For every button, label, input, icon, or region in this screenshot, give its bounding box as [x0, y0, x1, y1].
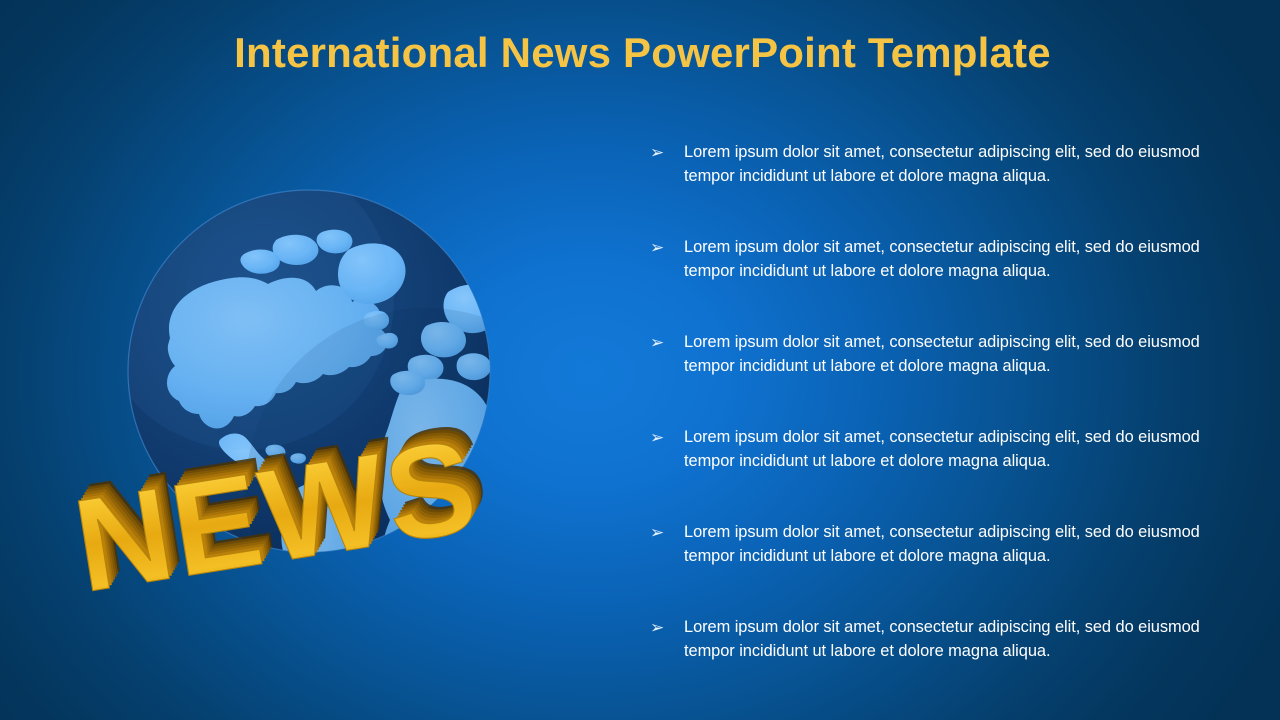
- page-title: International News PowerPoint Template: [0, 30, 1280, 76]
- list-item-text: Lorem ipsum dolor sit amet, consectetur …: [684, 140, 1236, 188]
- list-item-text: Lorem ipsum dolor sit amet, consectetur …: [684, 615, 1236, 663]
- arrow-bullet-icon: ➢: [650, 521, 676, 545]
- list-item: ➢ Lorem ipsum dolor sit amet, consectetu…: [650, 520, 1250, 615]
- arrow-bullet-icon: ➢: [650, 616, 676, 640]
- list-item-text: Lorem ipsum dolor sit amet, consectetur …: [684, 235, 1236, 283]
- list-item: ➢ Lorem ipsum dolor sit amet, consectetu…: [650, 140, 1250, 235]
- arrow-bullet-icon: ➢: [650, 331, 676, 355]
- slide-canvas: International News PowerPoint Template: [0, 0, 1280, 720]
- news-wordmark: NEWS NEWS NEWS NEWS NEWS NEWS NEWS: [70, 400, 570, 640]
- list-item: ➢ Lorem ipsum dolor sit amet, consectetu…: [650, 235, 1250, 330]
- svg-text:NEWS: NEWS: [70, 411, 487, 619]
- arrow-bullet-icon: ➢: [650, 426, 676, 450]
- list-item: ➢ Lorem ipsum dolor sit amet, consectetu…: [650, 330, 1250, 425]
- bullet-list: ➢ Lorem ipsum dolor sit amet, consectetu…: [650, 140, 1250, 710]
- list-item-text: Lorem ipsum dolor sit amet, consectetur …: [684, 330, 1236, 378]
- list-item: ➢ Lorem ipsum dolor sit amet, consectetu…: [650, 425, 1250, 520]
- list-item-text: Lorem ipsum dolor sit amet, consectetur …: [684, 425, 1236, 473]
- list-item-text: Lorem ipsum dolor sit amet, consectetur …: [684, 520, 1236, 568]
- news-3d-text: NEWS NEWS NEWS NEWS NEWS NEWS NEWS: [70, 400, 570, 640]
- arrow-bullet-icon: ➢: [650, 236, 676, 260]
- list-item: ➢ Lorem ipsum dolor sit amet, consectetu…: [650, 615, 1250, 710]
- arrow-bullet-icon: ➢: [650, 141, 676, 165]
